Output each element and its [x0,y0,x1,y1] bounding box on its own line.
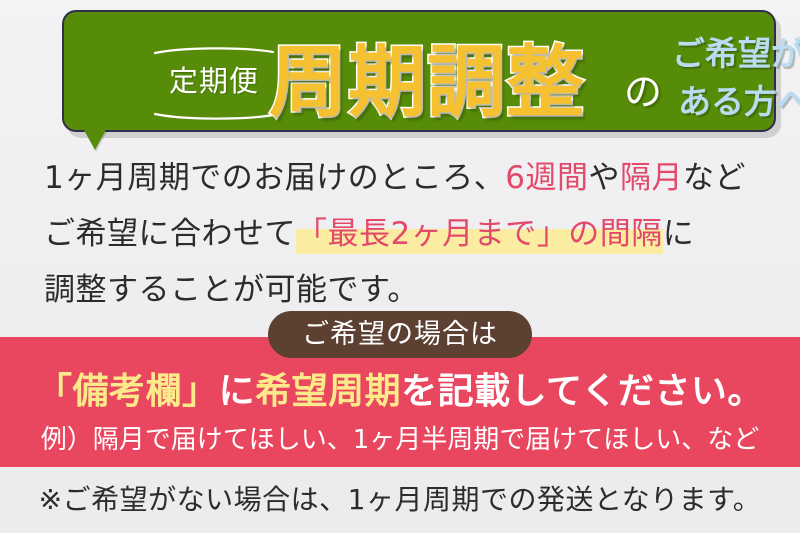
footer-note-text: ※ご希望がない場合は、1ヶ月周期での発送となります。 [0,478,800,522]
header-main-title: 周期調整 [269,30,585,136]
sub-label-text: 定期便 [152,58,276,104]
sub-label-group: 定期便 [152,44,276,122]
promo-banner: 定期便 周期調整 の ご希望が ある方へ 1ヶ月周期でのお届けのところ、6週間や… [0,0,800,533]
body-line-3: 調整することが可能です。 [44,262,774,318]
pink-band-main-text: 「備考欄」に希望周期を記載してください。 [0,366,800,418]
body-l3-seg1: 調整することが可能です。 [44,272,419,308]
ribbon-line-top-icon [154,46,274,55]
pink-main-seg2: に [219,371,256,412]
body-l1-highlight-bimonthly: 隔月 [620,160,683,196]
body-l2-marked-interval: 「最長2ヶ月まで」の間隔 [296,216,663,254]
body-l1-highlight-weeks: 6週間 [505,160,588,196]
header-right-text: ご希望が ある方へ [672,30,800,126]
body-l1-seg5: など [683,160,746,196]
pink-main-seg3-cycle: 希望周期 [255,371,401,412]
ribbon-line-bottom-icon [154,112,274,121]
header-speech-bubble: 定期便 周期調整 の ご希望が ある方へ [62,10,776,132]
body-l2-seg1: ご希望に合わせて [44,216,296,252]
body-line-2: ご希望に合わせて「最長2ヶ月まで」の間隔に [44,206,774,262]
header-section: 定期便 周期調整 の ご希望が ある方へ [0,0,800,150]
header-right-line2: ある方へ [672,78,800,126]
body-paragraph: 1ヶ月周期でのお届けのところ、6週間や隔月など ご希望に合わせて「最長2ヶ月まで… [44,150,774,318]
pink-main-seg1-field: 「備考欄」 [36,371,219,412]
body-l1-seg1: 1ヶ月周期でのお届けのところ、 [44,160,505,196]
pink-band-example-text: 例）隔月で届けてほしい、1ヶ月半周期で届けてほしい、など [0,421,800,459]
header-title-particle: の [624,68,662,116]
speech-bubble-tail-icon [84,130,106,150]
condition-badge: ご希望の場合は [268,311,532,358]
body-l1-seg3: や [588,160,620,196]
body-l2-seg3: に [663,216,695,252]
pink-main-seg4: を記載してください。 [401,371,764,412]
header-right-line1: ご希望が [672,30,800,78]
body-line-1: 1ヶ月周期でのお届けのところ、6週間や隔月など [44,150,774,206]
